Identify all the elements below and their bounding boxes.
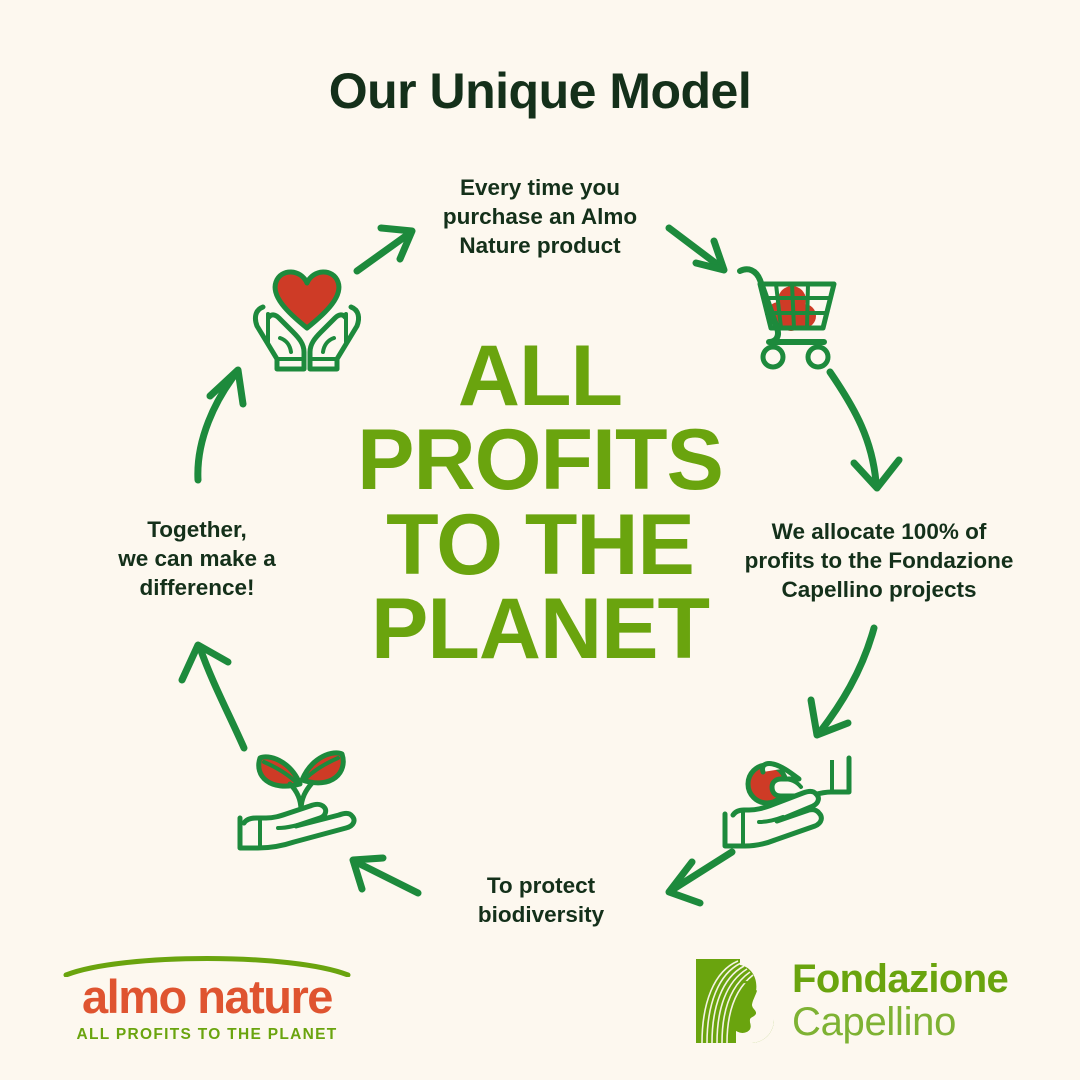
step-label-purchase: Every time you purchase an Almo Nature p… [406,174,674,260]
arrow-to-coin [820,628,874,732]
almo-nature-logo[interactable]: almo nature ALL PROFITS TO THE PLANET [62,955,352,1050]
step-label-allocate: We allocate 100% of profits to the Fonda… [718,518,1040,604]
arrow-to-plant [356,862,418,893]
arrow-to-biodiversity-head [669,862,700,903]
infographic-canvas: Our Unique Model [0,0,1080,1080]
arrow-to-allocate-head [854,460,899,488]
hands-holding-heart-icon [243,252,371,374]
step-label-together: Together, we can make a difference! [92,516,302,602]
hand-giving-coin-icon [719,736,853,852]
arrow-to-cart [669,228,722,268]
arrow-to-coin-head [811,700,848,735]
arrow-to-biodiversity [672,852,732,890]
step-label-biodiversity: To protect biodiversity [432,872,650,930]
fondazione-capellino-logo[interactable]: Fondazione Capellino [694,955,1039,1047]
fondazione-line-2: Capellino [792,1001,956,1044]
arrow-to-plant-head [353,858,383,889]
fondazione-face-mark-icon [694,957,776,1045]
hand-holding-sprout-icon [234,736,368,854]
center-slogan: ALL PROFITS TO THE PLANET [300,334,780,671]
arrow-up-left-head [210,370,243,404]
almo-wordmark: almo nature [62,973,352,1020]
arrow-to-together-head [182,645,228,680]
arrow-to-allocate [830,372,876,482]
almo-tagline: ALL PROFITS TO THE PLANET [62,1027,352,1043]
arrow-to-together [200,648,244,748]
shopping-cart-icon [730,258,846,370]
page-title: Our Unique Model [0,62,1080,120]
fondazione-line-1: Fondazione [792,958,1008,1001]
arrow-up-left [198,372,237,480]
arrow-to-cart-head [696,241,724,270]
